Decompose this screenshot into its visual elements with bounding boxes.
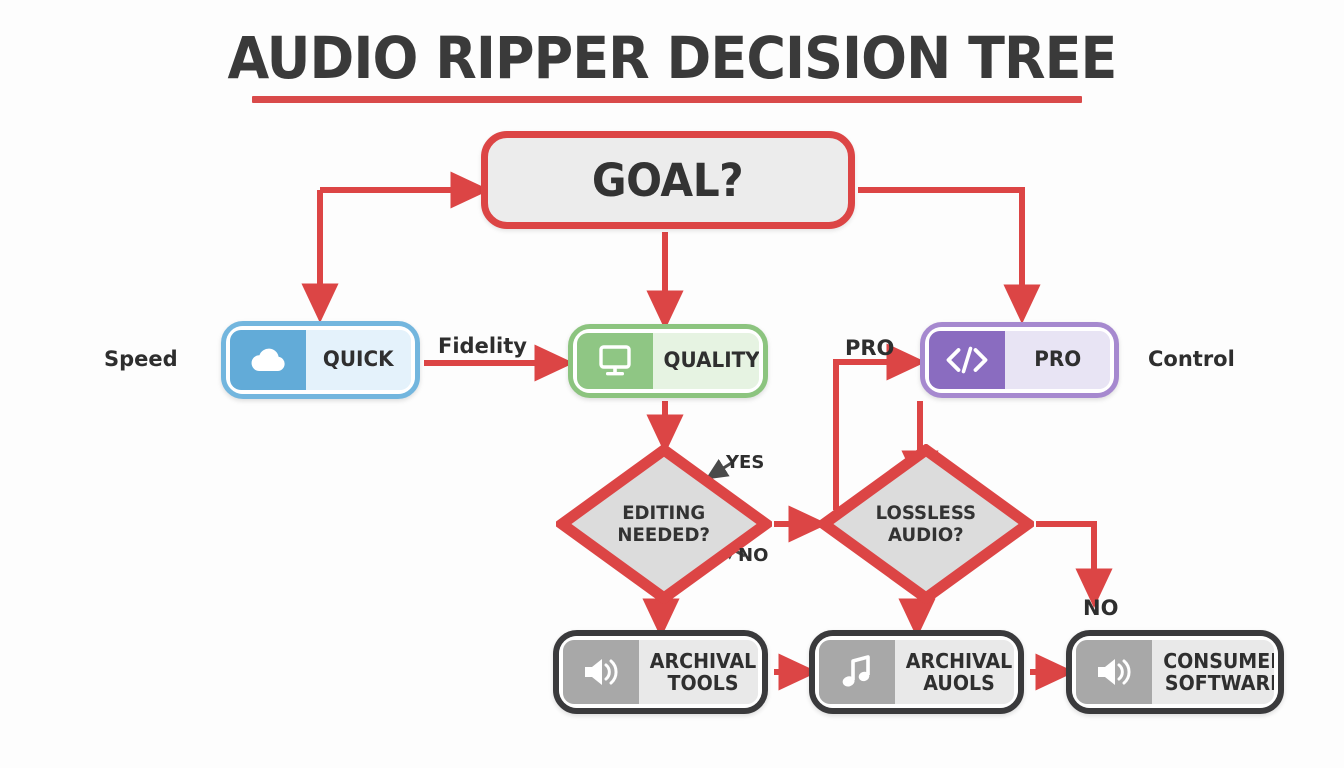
label-no-right: NO [1083,596,1118,620]
node-archival-auols[interactable]: ARCHIVAL AUOLS [809,630,1024,714]
label-no: NO [738,545,768,566]
node-quality[interactable]: QUALITY [568,324,768,398]
speaker-icon [1076,640,1152,704]
diagram-canvas: AUDIO RIPPER DECISION TREE [0,0,1344,768]
cloud-icon [230,330,306,390]
speaker-icon [563,640,639,704]
monitor-icon [577,333,653,389]
node-goal-label: GOAL? [592,154,743,207]
archival-tools-line2: TOOLS [668,671,739,695]
node-consumer-software[interactable]: CONSUMER SOFTWARE [1066,630,1284,714]
node-archival-auols-label: ARCHIVAL AUOLS [906,650,1012,695]
consumer-software-line2: SOFTWARE [1165,671,1278,695]
node-pro[interactable]: PRO [920,322,1119,398]
node-archival-tools-label: ARCHIVAL TOOLS [650,650,756,695]
music-note-icon [819,640,895,704]
node-goal[interactable]: GOAL? [481,131,855,229]
label-control: Control [1148,347,1235,371]
label-speed: Speed [104,347,178,371]
node-consumer-software-label: CONSUMER SOFTWARE [1163,650,1278,695]
archival-auols-line1: ARCHIVAL [906,649,1012,673]
node-quality-label: QUALITY [664,349,760,373]
archival-tools-line1: ARCHIVAL [650,649,756,673]
label-yes: YES [726,452,764,473]
node-lossless-audio[interactable]: LOSSLESS AUDIO? [818,444,1034,604]
edge-lossless-no-to-consumer [1036,524,1094,590]
node-pro-label: PRO [1034,348,1081,372]
node-archival-tools[interactable]: ARCHIVAL TOOLS [553,630,768,714]
consumer-software-line1: CONSUMER [1163,649,1278,673]
code-icon [929,331,1005,389]
label-pro: PRO [845,336,894,360]
node-quick[interactable]: QUICK [221,321,420,399]
label-fidelity: Fidelity [438,334,527,358]
archival-auols-line2: AUOLS [923,671,995,695]
node-quick-label: QUICK [323,348,394,372]
edge-goal-to-pro [858,190,1022,306]
